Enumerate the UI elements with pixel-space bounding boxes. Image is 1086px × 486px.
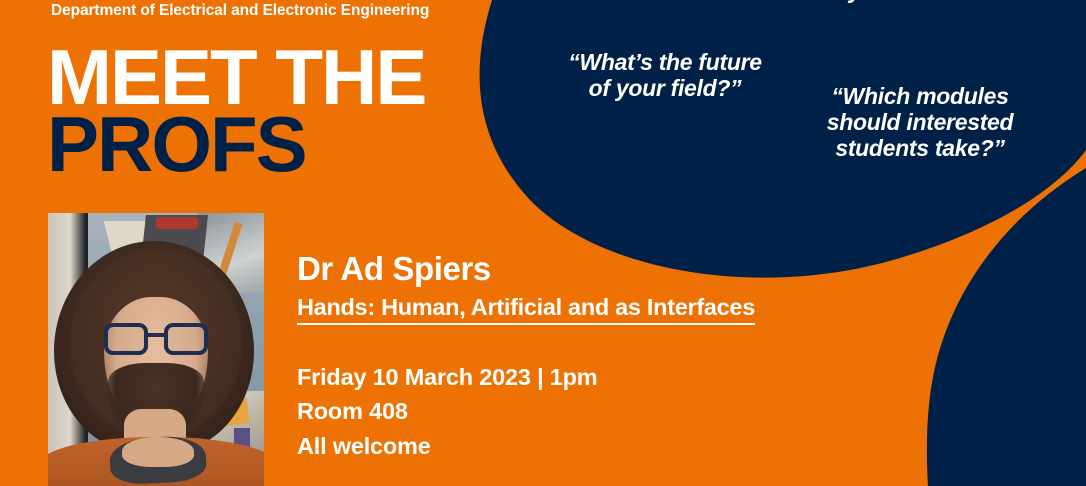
photo-glasses-bridge [148, 333, 166, 337]
event-datetime: Friday 10 March 2023 | 1pm [297, 360, 598, 394]
photo-lens-left [104, 323, 148, 355]
navy-blob-bottom-right [927, 168, 1086, 486]
quote-what-courses: do you offer?” [744, 0, 1044, 5]
speaker-photo [48, 213, 264, 486]
event-location: Room 408 [297, 394, 598, 428]
quote-future-of-field: “What’s the future of your field?” [540, 50, 790, 102]
photo-background [48, 213, 264, 486]
event-audience: All welcome [297, 429, 598, 463]
photo-poster-art-red [156, 217, 198, 229]
glasses-icon [102, 323, 212, 357]
event-details: Friday 10 March 2023 | 1pm Room 408 All … [297, 360, 598, 463]
photo-collar-skin [122, 437, 194, 467]
talk-title: Hands: Human, Artificial and as Interfac… [297, 294, 755, 325]
department-header: Department of Electrical and Electronic … [51, 1, 429, 20]
speaker-name: Dr Ad Spiers [297, 250, 491, 288]
quote-which-modules: “Which modules should interested student… [800, 84, 1040, 161]
photo-lens-right [164, 323, 208, 355]
meet-the-profs-poster: Department of Electrical and Electronic … [0, 0, 1086, 486]
title-line-profs: PROFS [47, 111, 425, 178]
page-title: MEET THE PROFS [47, 44, 425, 178]
